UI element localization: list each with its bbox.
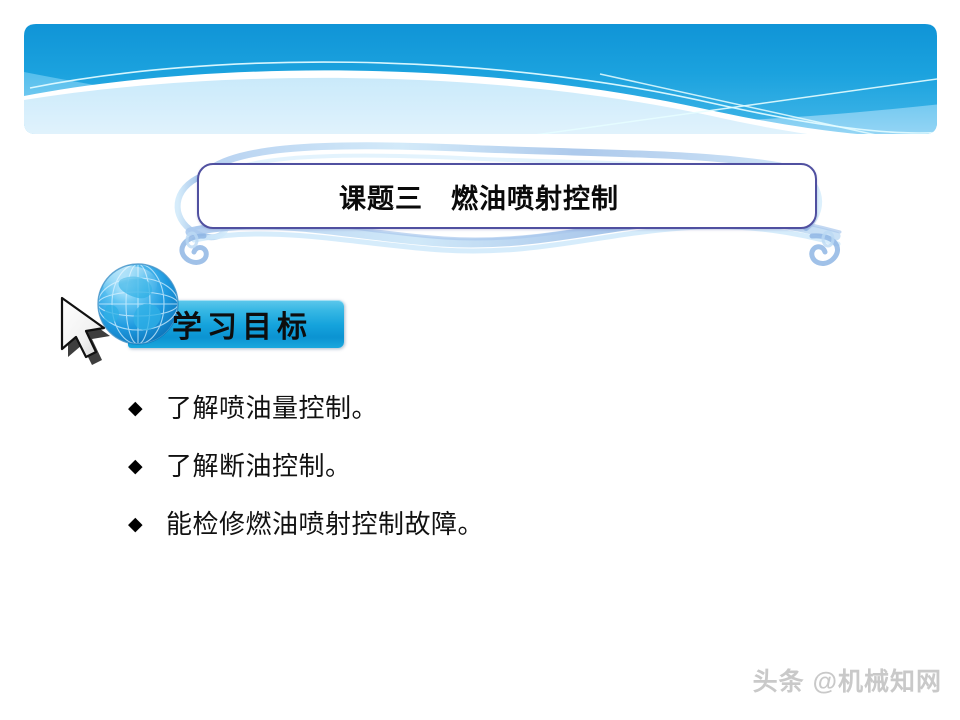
slide-title-box: 课题三 燃油喷射控制 xyxy=(197,163,817,229)
banner-cross-line-b xyxy=(600,74,944,150)
banner-cross-line-a xyxy=(470,78,944,144)
mouse-cursor-icon xyxy=(46,294,116,368)
header-wave-banner xyxy=(0,0,960,160)
diamond-bullet-icon: ◆ xyxy=(128,450,166,484)
list-item-label: 了解喷油量控制。 xyxy=(166,392,378,426)
objectives-list: ◆ 了解喷油量控制。 ◆ 了解断油控制。 ◆ 能检修燃油喷射控制故障。 xyxy=(128,392,788,566)
list-item-label: 能检修燃油喷射控制故障。 xyxy=(166,508,484,542)
badge-label: 学习目标 xyxy=(172,302,342,346)
page-title: 课题三 燃油喷射控制 xyxy=(339,177,619,216)
list-item-label: 了解断油控制。 xyxy=(166,450,352,484)
diamond-bullet-icon: ◆ xyxy=(128,392,166,426)
banner-blue-field xyxy=(20,20,942,138)
banner-clip-group xyxy=(20,20,944,150)
list-item: ◆ 能检修燃油喷射控制故障。 xyxy=(128,508,788,566)
banner-arc-line xyxy=(30,62,944,133)
slide-canvas: 课题三 燃油喷射控制 xyxy=(0,0,960,720)
banner-pale-sliver xyxy=(24,78,942,146)
banner-mid-wave xyxy=(24,72,942,140)
list-item: ◆ 了解断油控制。 xyxy=(128,450,788,508)
diamond-bullet-icon: ◆ xyxy=(128,508,166,542)
list-item: ◆ 了解喷油量控制。 xyxy=(128,392,788,450)
learning-objectives-badge: 学习目标 xyxy=(44,258,314,370)
watermark: 头条 @机械知网 xyxy=(753,662,942,698)
banner-white-wave xyxy=(24,70,942,140)
ribbon-right-spiral xyxy=(812,232,838,264)
